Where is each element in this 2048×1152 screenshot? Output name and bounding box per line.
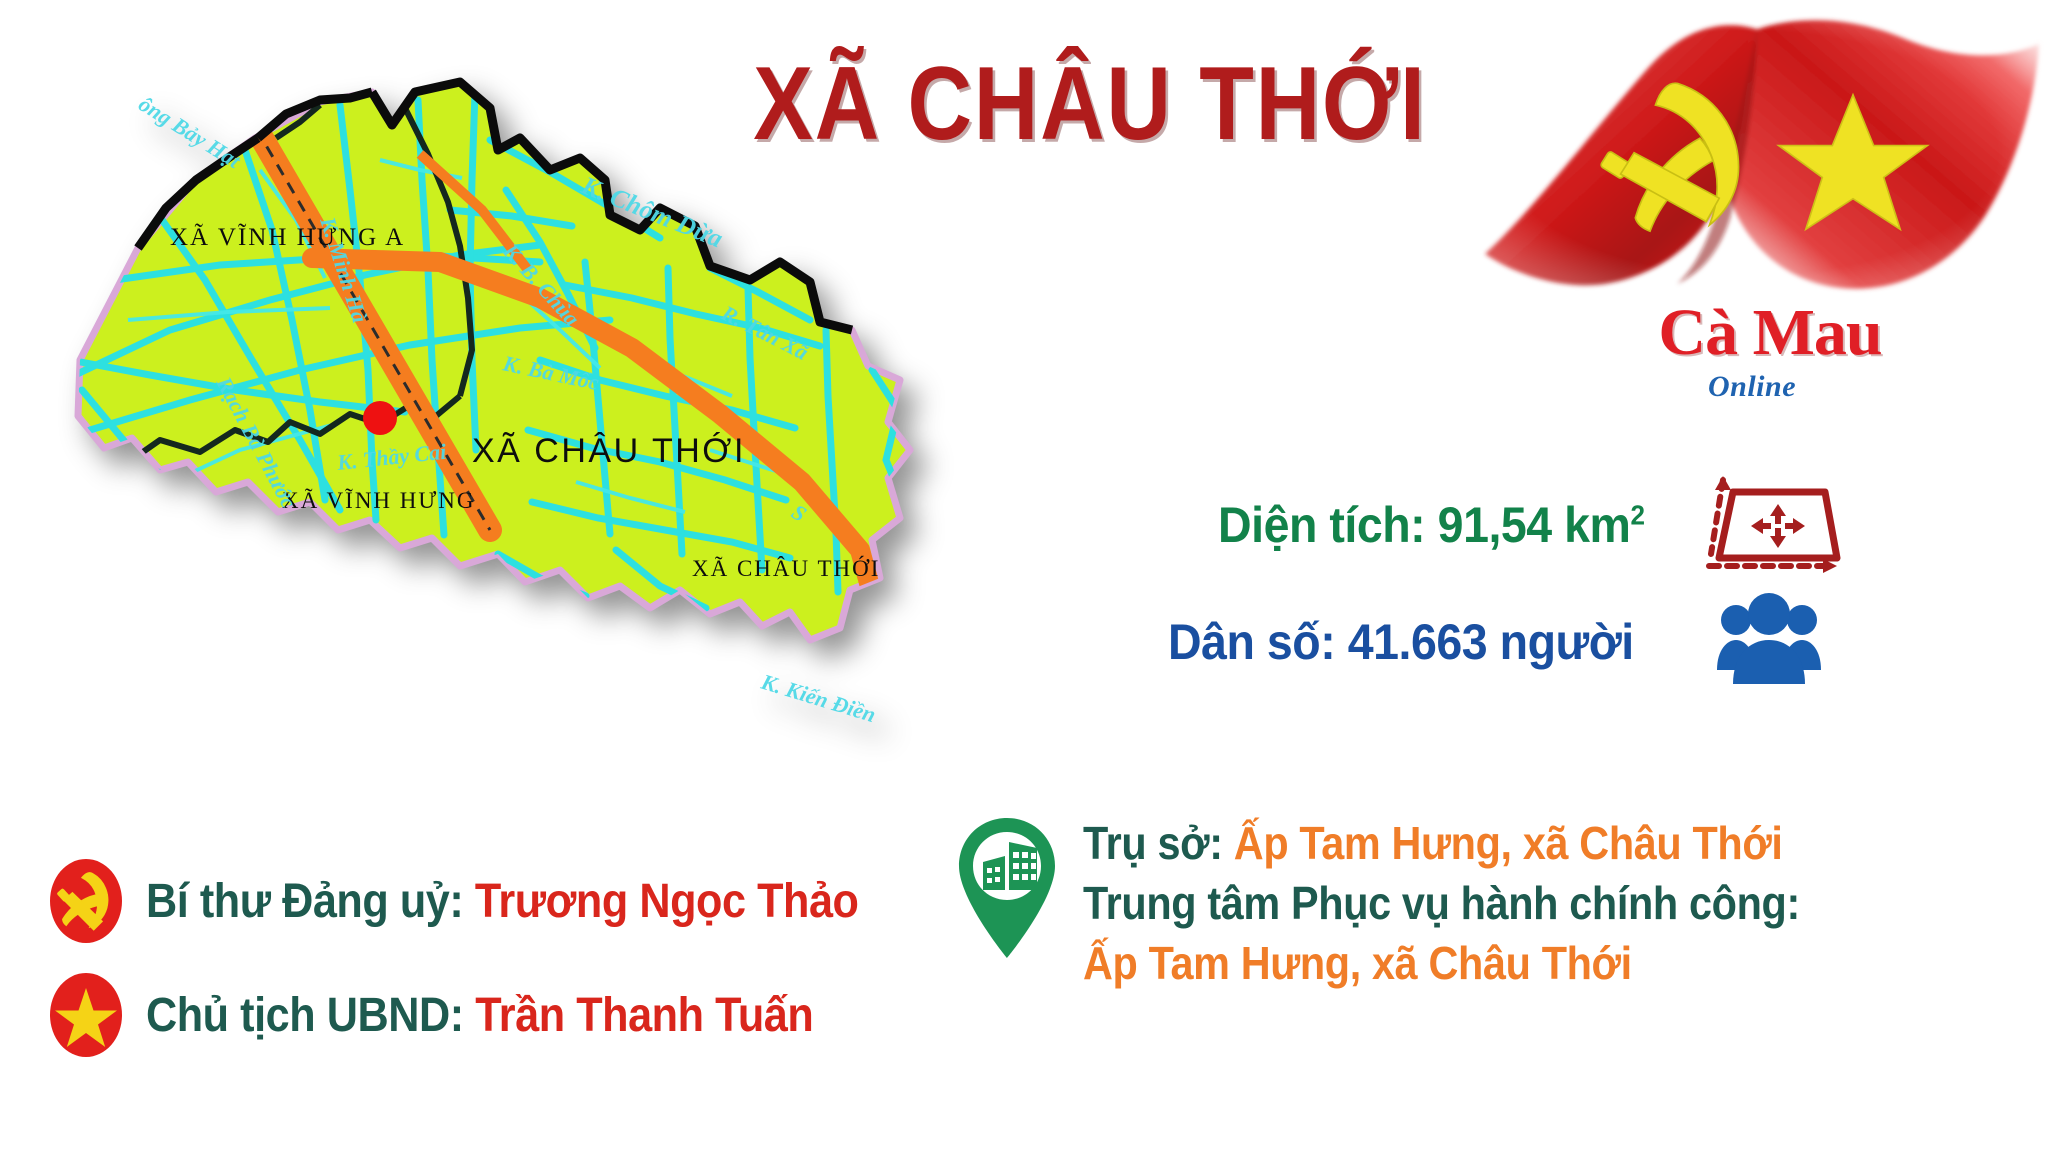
headquarters-value: Ấp Tam Hưng, xã Châu Thới	[1234, 817, 1783, 869]
area-superscript: 2	[1630, 499, 1644, 530]
river-label-kien-dien: K. Kiến Điền	[758, 669, 879, 728]
area-stat: Diện tích: 91,54 km2	[1218, 470, 1843, 580]
secretary-label: Bí thư Đảng uỷ:	[146, 875, 463, 928]
area-label: Diện tích:	[1218, 497, 1425, 553]
secretary-text: Bí thư Đảng uỷ: Trương Ngọc Thảo	[146, 874, 858, 929]
secretary-row: Bí thư Đảng uỷ: Trương Ngọc Thảo	[48, 858, 938, 944]
camau-online-logo[interactable]: Cà Mau Online	[1590, 300, 1950, 402]
area-value: 91,54 km	[1438, 497, 1631, 553]
chairman-label: Chủ tịch UBND:	[146, 989, 464, 1042]
population-stat-text: Dân số: 41.663 người	[1168, 613, 1634, 671]
secretary-name: Trương Ngọc Thảo	[475, 875, 859, 928]
hammer-sickle-emblem	[48, 858, 124, 944]
map-label-vinh-hung-a: XÃ VĨNH HƯNG A	[170, 223, 405, 251]
logo-title: Cà Mau	[1590, 300, 1950, 366]
vietnam-star-emblem	[48, 972, 124, 1058]
population-stat: Dân số: 41.663 người	[1168, 592, 1829, 692]
address-lines: Trụ sở: Ấp Tam Hưng, xã Châu Thới Trung …	[1083, 810, 1880, 993]
service-center-label: Trung tâm Phục vụ hành chính công:	[1083, 874, 1800, 934]
address-block: Trụ sở: Ấp Tam Hưng, xã Châu Thới Trung …	[955, 810, 1880, 993]
infographic-root: XÃ VĨNH HƯNG A XÃ VĨNH HƯNG XÃ CHÂU THỚI…	[0, 0, 2048, 1152]
map-label-chau-thoi-main: XÃ CHÂU THỚI	[472, 432, 746, 470]
vietnam-party-flag-icon	[1455, 8, 2045, 298]
map-label-vinh-hung: XÃ VĨNH HƯNG	[282, 488, 475, 513]
area-trapezoid-icon	[1703, 470, 1843, 580]
service-center-value: Ấp Tam Hưng, xã Châu Thới	[1083, 934, 1800, 994]
people-group-icon	[1709, 592, 1829, 692]
chairman-text: Chủ tịch UBND: Trần Thanh Tuấn	[146, 988, 813, 1043]
chairman-row: Chủ tịch UBND: Trần Thanh Tuấn	[48, 972, 887, 1058]
building-location-pin-icon	[955, 814, 1059, 962]
map-label-chau-thoi-south: XÃ CHÂU THỚI	[692, 555, 880, 581]
population-label: Dân số:	[1168, 614, 1335, 670]
population-value: 41.663 người	[1348, 614, 1634, 670]
logo-subtitle: Online	[1708, 372, 1950, 402]
chairman-name: Trần Thanh Tuấn	[475, 989, 813, 1042]
headquarters-line: Trụ sở: Ấp Tam Hưng, xã Châu Thới	[1083, 814, 1800, 874]
page-title: XÃ CHÂU THỚI	[753, 52, 1407, 156]
area-stat-text: Diện tích: 91,54 km2	[1218, 496, 1644, 554]
headquarters-label: Trụ sở:	[1083, 817, 1223, 869]
commune-center-marker	[363, 401, 397, 435]
